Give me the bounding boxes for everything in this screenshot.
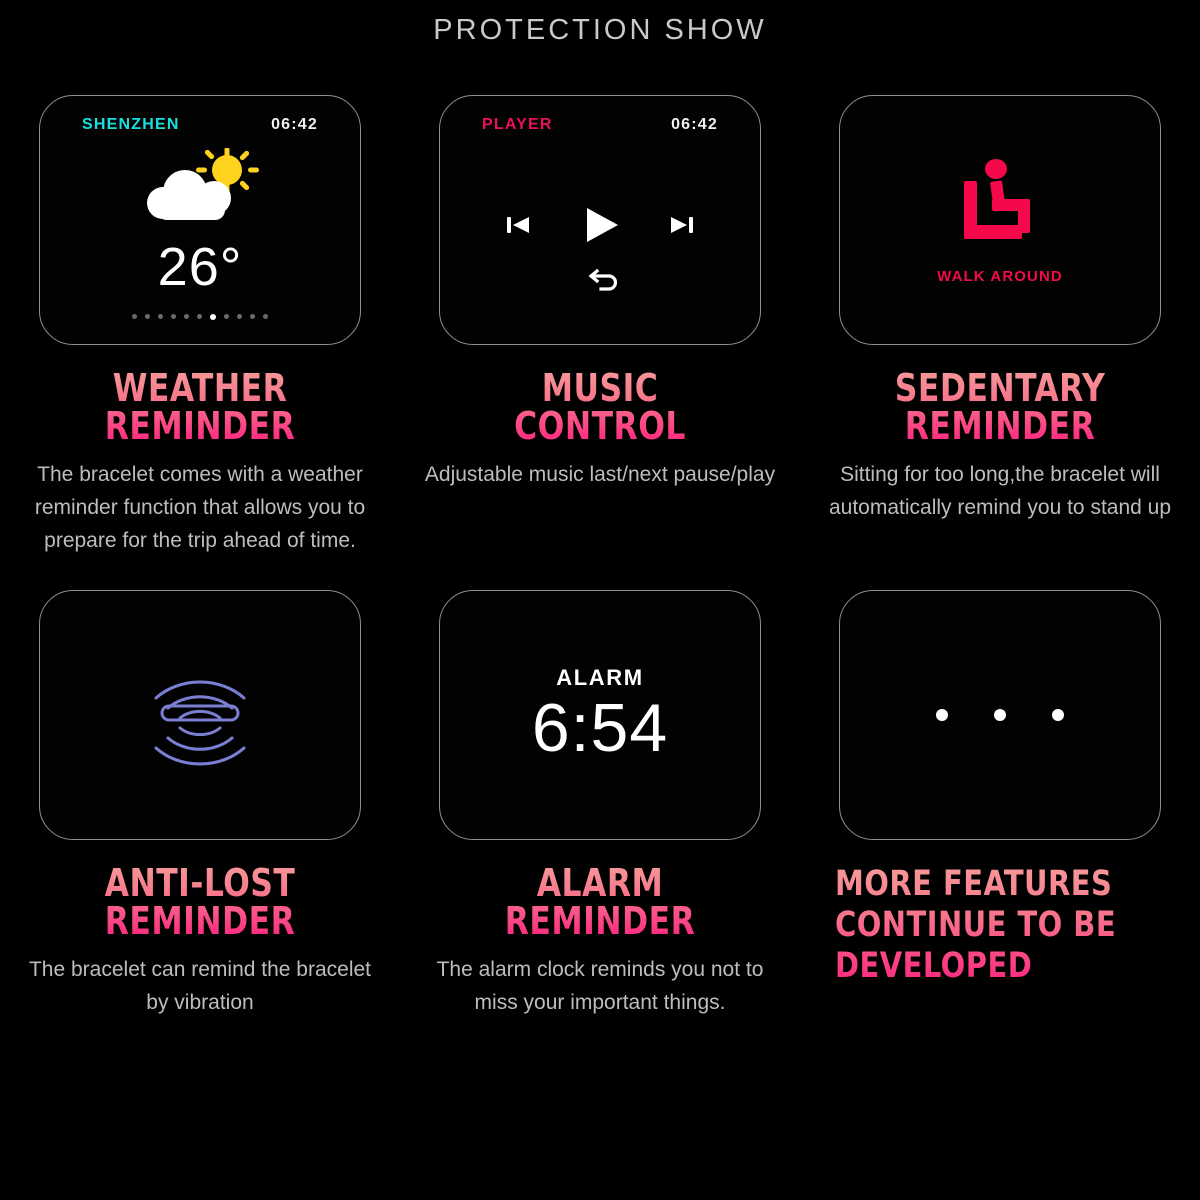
ellipsis-dot [994, 709, 1006, 721]
caption-sedentary-reminder: SEDENTARY REMINDER Sitting for too long,… [820, 369, 1180, 524]
feature-description: Adjustable music last/next pause/play [420, 458, 780, 491]
vibration-content [40, 591, 360, 839]
page-dot[interactable] [158, 314, 163, 319]
page-dot[interactable] [132, 314, 137, 319]
feature-description: The bracelet can remind the bracelet by … [20, 953, 380, 1019]
page-dot-active[interactable] [210, 314, 216, 320]
page-indicator-dots[interactable] [40, 314, 360, 320]
sun-behind-cloud-icon [40, 148, 360, 228]
feature-title-line: ANTI-LOST [34, 864, 365, 902]
caption-anti-lost-reminder: ANTI-LOST REMINDER The bracelet can remi… [20, 864, 380, 1019]
feature-title: SEDENTARY REMINDER [834, 369, 1165, 445]
feature-card-music-control[interactable]: PLAYER 06:42 [400, 95, 800, 558]
sedentary-content: WALK AROUND [840, 96, 1160, 344]
feature-title-line: REMINDER [834, 407, 1165, 445]
back-arrow-icon[interactable] [583, 268, 617, 301]
feature-title: MORE FEATURES CONTINUE TO BE DEVELOPED [835, 864, 1139, 988]
alarm-content: ALARM 6:54 [440, 591, 760, 839]
caption-music-control: MUSIC CONTROL Adjustable music last/next… [420, 369, 780, 491]
feature-description: The alarm clock reminds you not to miss … [420, 953, 780, 1019]
feature-title-line: WEATHER [34, 369, 365, 407]
clock-label: 06:42 [271, 116, 318, 134]
page-dot[interactable] [237, 314, 242, 319]
feature-row-1: SHENZHEN 06:42 [0, 95, 1200, 558]
feature-description: The bracelet comes with a weather remind… [20, 458, 380, 558]
feature-title-line: SEDENTARY [834, 369, 1165, 407]
sedentary-label: WALK AROUND [937, 268, 1063, 285]
player-back-row[interactable] [440, 268, 760, 301]
feature-grid: SHENZHEN 06:42 [0, 95, 1200, 1019]
alarm-time: 6:54 [532, 693, 668, 764]
watch-screen-alarm[interactable]: ALARM 6:54 [439, 590, 761, 840]
page-dot[interactable] [145, 314, 150, 319]
feature-title-line: MUSIC [434, 369, 765, 407]
caption-more-features: MORE FEATURES CONTINUE TO BE DEVELOPED [835, 864, 1165, 988]
player-status-bar: PLAYER 06:42 [440, 116, 760, 134]
feature-card-weather-reminder[interactable]: SHENZHEN 06:42 [0, 95, 400, 558]
page-dot[interactable] [250, 314, 255, 319]
page-dot[interactable] [224, 314, 229, 319]
feature-title-line: ALARM [434, 864, 765, 902]
watch-screen-player[interactable]: PLAYER 06:42 [439, 95, 761, 345]
page-dot[interactable] [263, 314, 268, 319]
feature-title-line: CONTROL [434, 407, 765, 445]
feature-title: MUSIC CONTROL [434, 369, 765, 445]
player-label: PLAYER [482, 116, 553, 134]
alarm-label: ALARM [556, 665, 643, 691]
weather-status-bar: SHENZHEN 06:42 [40, 116, 360, 134]
watch-screen-sedentary[interactable]: WALK AROUND [839, 95, 1161, 345]
caption-weather-reminder: WEATHER REMINDER The bracelet comes with… [20, 369, 380, 558]
page-dot[interactable] [184, 314, 189, 319]
feature-title-line: REMINDER [34, 407, 365, 445]
feature-title-line: REMINDER [434, 902, 765, 940]
page-title: PROTECTION SHOW [0, 14, 1200, 47]
feature-title: ANTI-LOST REMINDER [34, 864, 365, 940]
page-dot[interactable] [197, 314, 202, 319]
location-label: SHENZHEN [82, 116, 180, 134]
feature-title: ALARM REMINDER [434, 864, 765, 940]
feature-card-more-features[interactable]: MORE FEATURES CONTINUE TO BE DEVELOPED [800, 590, 1200, 1019]
ellipsis-dot [936, 709, 948, 721]
feature-card-alarm-reminder[interactable]: ALARM 6:54 ALARM REMINDER The alarm cloc… [400, 590, 800, 1019]
feature-row-2: ANTI-LOST REMINDER The bracelet can remi… [0, 590, 1200, 1019]
feature-description: Sitting for too long,the bracelet will a… [820, 458, 1180, 524]
seated-person-icon [952, 155, 1048, 256]
feature-title-line: CONTINUE TO BE [835, 905, 1139, 946]
feature-title-line: MORE FEATURES [835, 864, 1139, 905]
ellipsis-dot [1052, 709, 1064, 721]
vibration-waves-icon [130, 642, 270, 787]
player-controls[interactable] [440, 202, 760, 253]
watch-screen-weather[interactable]: SHENZHEN 06:42 [39, 95, 361, 345]
feature-title: WEATHER REMINDER [34, 369, 365, 445]
watch-screen-more[interactable] [839, 590, 1161, 840]
watch-screen-vibration[interactable] [39, 590, 361, 840]
play-icon[interactable] [577, 202, 623, 253]
feature-card-sedentary-reminder[interactable]: WALK AROUND SEDENTARY REMINDER Sitting f… [800, 95, 1200, 558]
page-dot[interactable] [171, 314, 176, 319]
previous-track-icon[interactable] [503, 210, 533, 245]
temperature-value: 26° [40, 236, 360, 298]
feature-title-line: REMINDER [34, 902, 365, 940]
caption-alarm-reminder: ALARM REMINDER The alarm clock reminds y… [420, 864, 780, 1019]
feature-card-anti-lost-reminder[interactable]: ANTI-LOST REMINDER The bracelet can remi… [0, 590, 400, 1019]
ellipsis-icon [840, 591, 1160, 839]
next-track-icon[interactable] [667, 210, 697, 245]
feature-title-line: DEVELOPED [835, 946, 1139, 987]
clock-label: 06:42 [671, 116, 718, 134]
